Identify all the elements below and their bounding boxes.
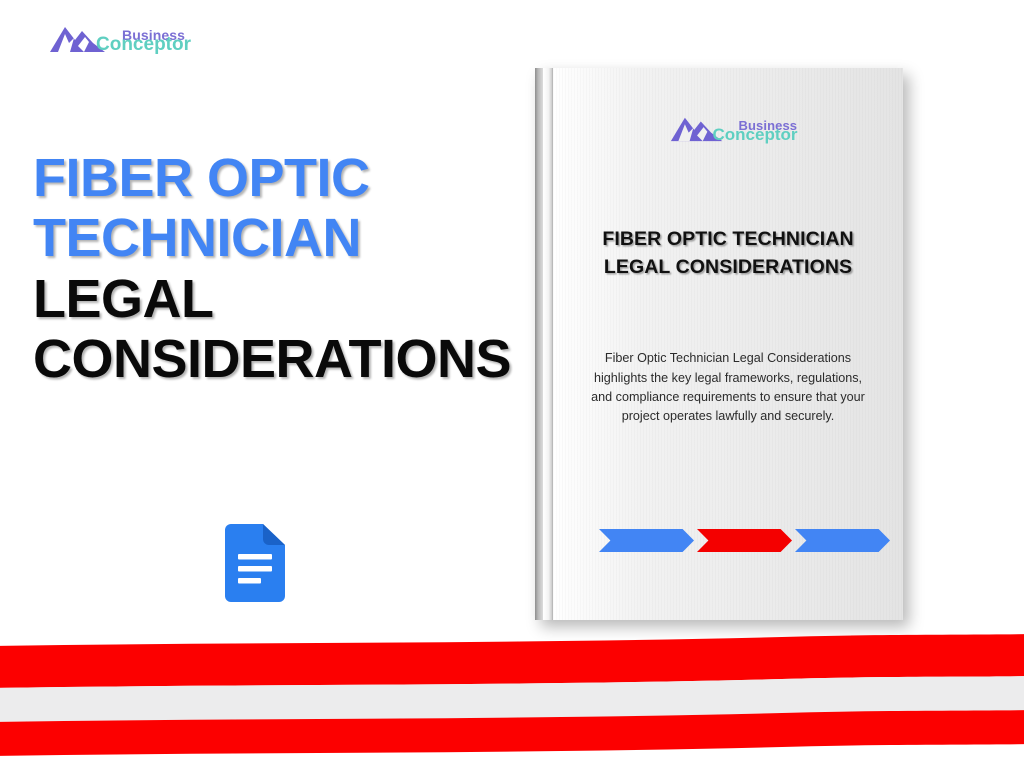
headline-line-2: TECHNICIAN — [33, 208, 533, 268]
chevron-arrow-1 — [599, 529, 694, 552]
headline-line-3: LEGAL — [33, 269, 533, 329]
book-spine-dark-edge — [535, 68, 543, 620]
brand-logo: Business Conceptor — [48, 22, 191, 59]
book-cover-title-line-1: FIBER OPTIC TECHNICIAN — [602, 226, 853, 254]
chevron-arrow-2 — [697, 529, 792, 552]
book-cover-description: Fiber Optic Technician Legal Considerati… — [584, 349, 872, 426]
page-title: FIBER OPTIC TECHNICIAN LEGAL CONSIDERATI… — [33, 148, 533, 390]
chevron-arrow-3 — [795, 529, 890, 552]
book-brand-logo: Business Conceptor — [669, 113, 798, 148]
brand-word-conceptor: Conceptor — [96, 35, 191, 54]
book-front-cover: Business Conceptor FIBER OPTIC TECHNICIA… — [553, 68, 903, 620]
brand-wordmark: Business Conceptor — [96, 28, 191, 54]
headline-line-1: FIBER OPTIC — [33, 148, 533, 208]
brand-word-conceptor: Conceptor — [713, 126, 798, 143]
book-cover-title: FIBER OPTIC TECHNICIAN LEGAL CONSIDERATI… — [602, 226, 853, 281]
book-cover-mockup: Business Conceptor FIBER OPTIC TECHNICIA… — [535, 68, 903, 620]
google-docs-icon[interactable] — [225, 524, 285, 602]
book-spine-light-edge — [543, 68, 553, 620]
ribbon-stripe-red-bottom — [0, 710, 1024, 756]
ribbon-stripe-red-top — [0, 634, 1024, 688]
book-cover-arrow-row — [599, 529, 890, 552]
book-brand-wordmark: Business Conceptor — [713, 119, 798, 143]
book-cover-title-line-2: LEGAL CONSIDERATIONS — [602, 254, 853, 282]
headline-line-4: CONSIDERATIONS — [33, 329, 533, 389]
ribbon-stripe-light-middle — [0, 676, 1024, 722]
bottom-ribbon — [0, 628, 1024, 758]
